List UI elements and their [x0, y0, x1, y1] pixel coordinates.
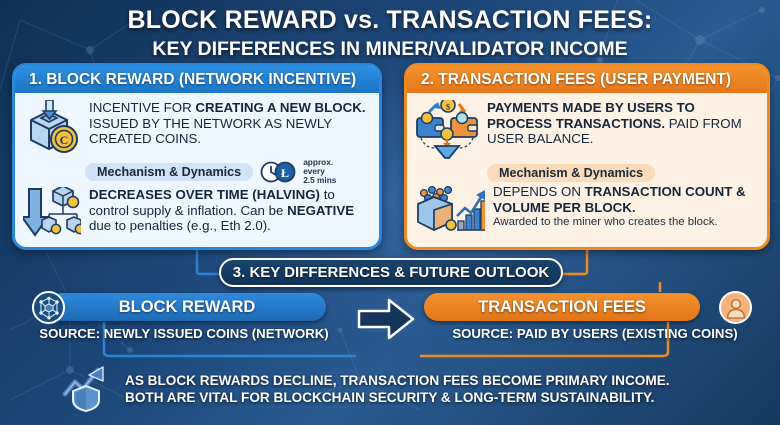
- crowd-growth-chart-icon: [415, 184, 485, 234]
- page-title: BLOCK REWARD vs. TRANSACTION FEES: KEY D…: [0, 6, 780, 61]
- section-3-header-label: 3. KEY DIFFERENCES & FUTURE OUTLOOK: [233, 264, 549, 281]
- clock-note: approx. every 2.5 mins: [303, 158, 336, 185]
- br-t2a: DECREASES OVER TIME (HALVING): [89, 187, 320, 202]
- footer-text: AS BLOCK REWARDS DECLINE, TRANSACTION FE…: [125, 372, 670, 407]
- tf-t2a: DEPENDS ON: [493, 184, 585, 199]
- block-reward-point-1: C INCENTIVE FOR CREATING A NEW BLOCK. IS…: [23, 100, 369, 156]
- transaction-fees-point-1: $: [415, 100, 757, 162]
- transaction-fees-mechanism-pill: Mechanism & Dynamics: [487, 164, 655, 182]
- block-reward-point-2: DECREASES OVER TIME (HALVING) to control…: [23, 187, 369, 239]
- right-arrow-icon: [355, 296, 417, 342]
- clock-note-line-3: 2.5 mins: [303, 176, 336, 185]
- comparison-block-reward-label: BLOCK REWARD: [119, 298, 256, 317]
- panel-block-reward: 1. BLOCK REWARD (NETWORK INCENTIVE) C: [12, 63, 382, 250]
- svg-text:$: $: [446, 103, 450, 112]
- blockchain-node-icon: [32, 291, 65, 324]
- comparison-transaction-fees-label: TRANSACTION FEES: [478, 298, 646, 317]
- block-coin-icon: C: [23, 100, 81, 156]
- footer-summary: AS BLOCK REWARDS DECLINE, TRANSACTION FE…: [62, 366, 762, 412]
- footer-line-2: BOTH ARE VITAL FOR BLOCKCHAIN SECURITY &…: [125, 389, 670, 407]
- comparison-transaction-fees: TRANSACTION FEES SOURCE: PAID BY USERS (…: [424, 293, 766, 341]
- transaction-fees-text-1: PAYMENTS MADE BY USERS TO PROCESS TRANSA…: [487, 100, 757, 147]
- panel-transaction-fees-header: 2. TRANSACTION FEES (USER PAYMENT): [407, 66, 767, 93]
- comparison-block-reward: BLOCK REWARD SOURCE: NEWLY ISSUED COINS …: [14, 293, 354, 341]
- title-line-2: KEY DIFFERENCES IN MINER/VALIDATOR INCOM…: [0, 38, 780, 61]
- user-person-icon: [719, 291, 752, 324]
- svg-text:C: C: [60, 133, 69, 147]
- down-arrow-halving-icon: [23, 187, 81, 239]
- br-t1b: CREATING A NEW BLOCK.: [195, 100, 365, 115]
- comparison-block-reward-source: SOURCE: NEWLY ISSUED COINS (NETWORK): [14, 326, 354, 341]
- br-t1c: ISSUED BY THE NETWORK AS NEWLY CREATED C…: [89, 116, 332, 147]
- transaction-fees-subtext: Awarded to the miner who creates the blo…: [493, 216, 757, 229]
- transaction-fees-text-2: DEPENDS ON TRANSACTION COUNT & VOLUME PE…: [493, 184, 757, 215]
- growth-shield-icon: [62, 366, 114, 412]
- br-t1a: INCENTIVE FOR: [89, 100, 195, 115]
- tf-t1a: PAYMENTS MADE BY USERS TO PROCESS TRANSA…: [487, 100, 695, 131]
- block-reward-mechanism-pill: Mechanism & Dynamics: [85, 163, 253, 181]
- clock-coin-icon: Ł: [260, 161, 296, 183]
- comparison-transaction-fees-pill: TRANSACTION FEES: [424, 293, 700, 321]
- title-line-1: BLOCK REWARD vs. TRANSACTION FEES:: [0, 6, 780, 35]
- footer-line-1: AS BLOCK REWARDS DECLINE, TRANSACTION FE…: [125, 372, 670, 390]
- comparison-transaction-fees-source: SOURCE: PAID BY USERS (EXISTING COINS): [424, 326, 766, 341]
- comparison-block-reward-pill: BLOCK REWARD: [48, 293, 326, 321]
- transaction-fees-point-2: DEPENDS ON TRANSACTION COUNT & VOLUME PE…: [415, 184, 757, 234]
- block-reward-mechanism-row: Mechanism & Dynamics Ł approx. every 2.5…: [85, 158, 369, 185]
- infographic-canvas: BLOCK REWARD vs. TRANSACTION FEES: KEY D…: [0, 0, 780, 425]
- wallet-transfer-icon: $: [415, 100, 479, 162]
- block-reward-text-2: DECREASES OVER TIME (HALVING) to control…: [89, 187, 369, 234]
- br-t2c: NEGATIVE: [287, 203, 354, 218]
- svg-text:Ł: Ł: [281, 166, 289, 180]
- panel-block-reward-header: 1. BLOCK REWARD (NETWORK INCENTIVE): [15, 66, 379, 93]
- block-reward-text-1: INCENTIVE FOR CREATING A NEW BLOCK. ISSU…: [89, 100, 369, 147]
- section-3-header-pill: 3. KEY DIFFERENCES & FUTURE OUTLOOK: [219, 258, 563, 287]
- transaction-fees-mechanism-row: Mechanism & Dynamics: [487, 164, 757, 182]
- br-t2d: due to penalties (e.g., Eth 2.0).: [89, 218, 271, 233]
- panel-transaction-fees: 2. TRANSACTION FEES (USER PAYMENT) $: [404, 63, 770, 250]
